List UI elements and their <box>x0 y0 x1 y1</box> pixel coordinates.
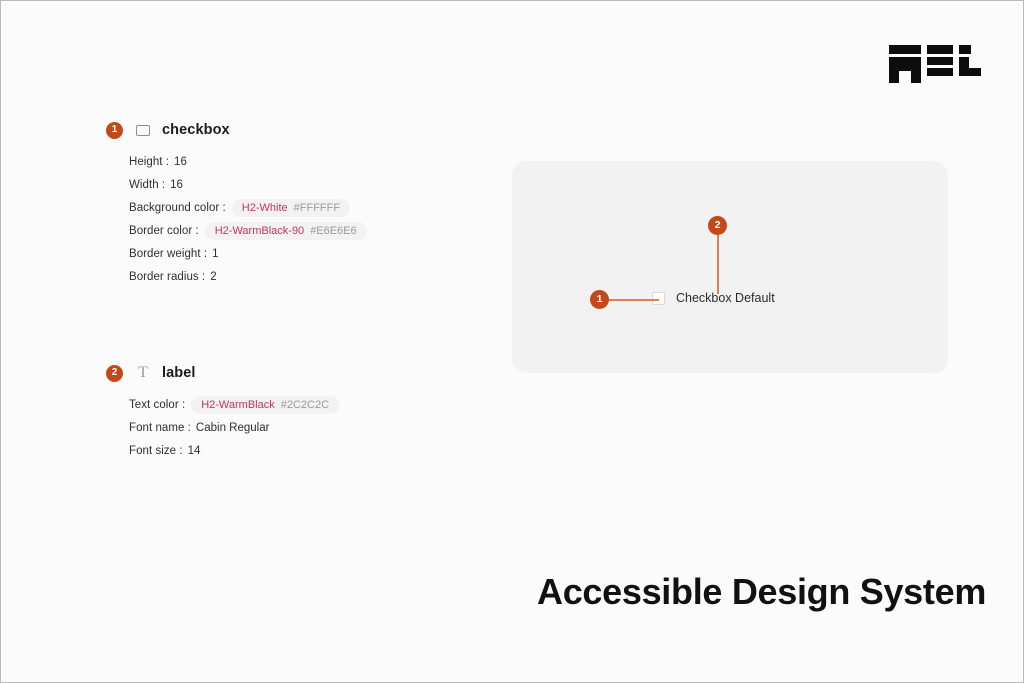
callout-leader-line-2 <box>717 232 719 294</box>
property-value: 16 <box>174 156 187 168</box>
color-token-chip: H2-White #FFFFFF <box>232 199 350 217</box>
property-label: Background color : <box>129 202 226 214</box>
ael-logo <box>889 45 981 83</box>
token-hex: #FFFFFF <box>294 202 340 214</box>
property-label: Border radius : <box>129 271 205 283</box>
property-row: Border weight : 1 <box>129 242 367 265</box>
color-token-chip: H2-WarmBlack-90 #E6E6E6 <box>205 222 367 240</box>
spec-block-label: 2 T label Text color : H2-WarmBlack #2C2… <box>106 362 339 462</box>
component-preview-panel: Checkbox Default <box>512 161 948 373</box>
property-value: 2 <box>210 271 216 283</box>
property-row: Height : 16 <box>129 150 367 173</box>
property-value: 1 <box>212 248 218 260</box>
token-hex: #2C2C2C <box>281 399 329 411</box>
property-value: Cabin Regular <box>196 422 270 434</box>
property-row: Border color : H2-WarmBlack-90 #E6E6E6 <box>129 219 367 242</box>
spec-header: 1 checkbox <box>106 119 367 141</box>
spec-title-label: label <box>162 365 196 381</box>
text-tool-icon: T <box>134 365 152 381</box>
checkbox-preview-row: Checkbox Default <box>652 291 775 305</box>
property-row: Background color : H2-White #FFFFFF <box>129 196 367 219</box>
property-label: Border color : <box>129 225 199 237</box>
property-row: Text color : H2-WarmBlack #2C2C2C <box>129 393 339 416</box>
token-name: H2-WarmBlack-90 <box>215 225 304 237</box>
property-label: Font size : <box>129 445 183 457</box>
property-row: Font size : 14 <box>129 439 339 462</box>
spec-title-checkbox: checkbox <box>162 122 230 138</box>
property-label: Width : <box>129 179 165 191</box>
property-value: 16 <box>170 179 183 191</box>
design-spec-canvas: 1 checkbox Height : 16 Width : 16 Backgr… <box>0 0 1024 683</box>
spec-property-list: Height : 16 Width : 16 Background color … <box>129 150 367 288</box>
callout-badge-2: 2 <box>708 216 727 235</box>
callout-leader-line-1 <box>607 299 659 301</box>
spec-block-checkbox: 1 checkbox Height : 16 Width : 16 Backgr… <box>106 119 367 288</box>
checkbox-default[interactable] <box>652 292 665 305</box>
property-label: Height : <box>129 156 169 168</box>
token-hex: #E6E6E6 <box>310 225 356 237</box>
property-row: Font name : Cabin Regular <box>129 416 339 439</box>
spec-badge-2: 2 <box>106 365 123 382</box>
color-token-chip: H2-WarmBlack #2C2C2C <box>191 396 339 414</box>
property-row: Width : 16 <box>129 173 367 196</box>
property-label: Font name : <box>129 422 191 434</box>
checkbox-icon <box>134 125 152 136</box>
spec-property-list: Text color : H2-WarmBlack #2C2C2C Font n… <box>129 393 339 462</box>
token-name: H2-WarmBlack <box>201 399 275 411</box>
property-value: 14 <box>188 445 201 457</box>
spec-header: 2 T label <box>106 362 339 384</box>
page-title: Accessible Design System <box>537 571 986 613</box>
checkbox-default-label: Checkbox Default <box>676 291 775 305</box>
token-name: H2-White <box>242 202 288 214</box>
callout-badge-1: 1 <box>590 290 609 309</box>
property-label: Border weight : <box>129 248 207 260</box>
spec-badge-1: 1 <box>106 122 123 139</box>
property-row: Border radius : 2 <box>129 265 367 288</box>
property-label: Text color : <box>129 399 185 411</box>
